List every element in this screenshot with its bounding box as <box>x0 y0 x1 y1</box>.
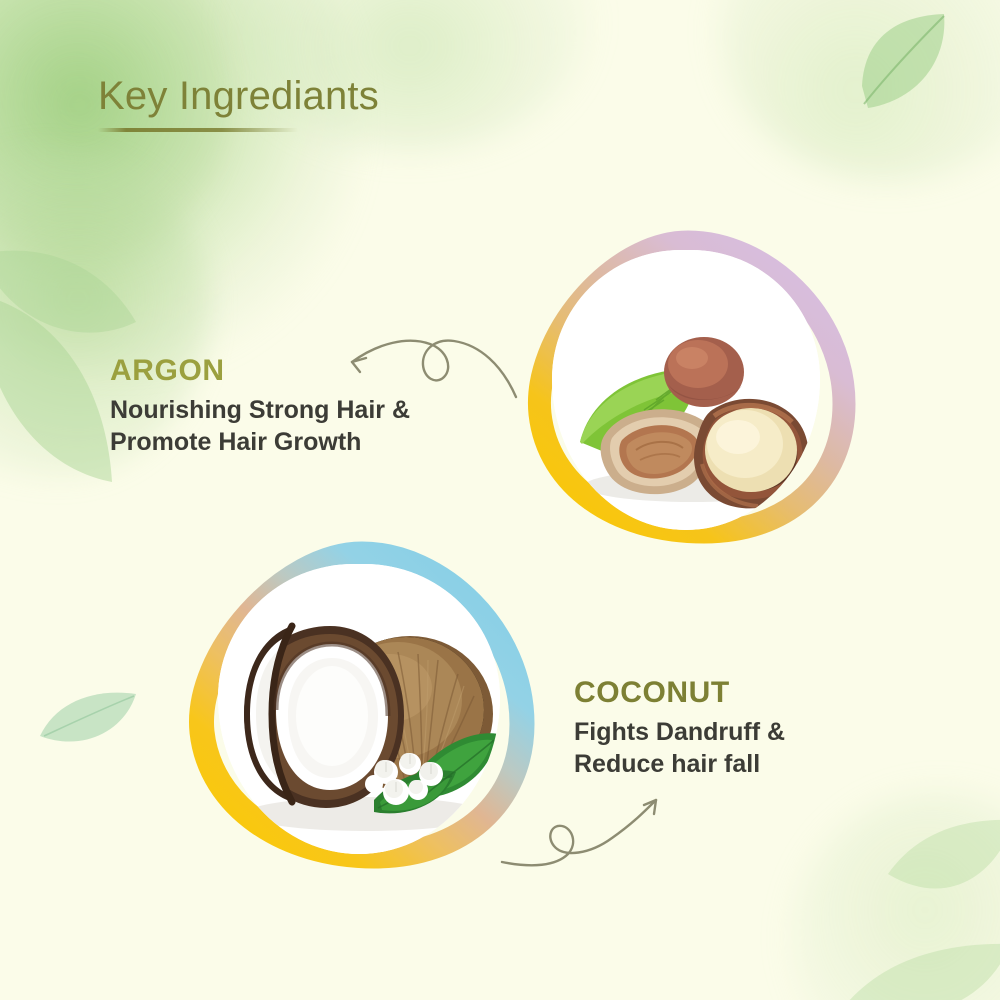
ingredient-name-argon: ARGON <box>110 356 410 386</box>
watercolor-top-left <box>0 0 360 370</box>
ingredient-text-coconut: COCONUT Fights Dandruff & Reduce hair fa… <box>574 678 785 780</box>
ingredient-name-coconut: COCONUT <box>574 678 785 708</box>
leaf-bottom-left-icon <box>36 686 140 754</box>
leaf-top-right-icon <box>852 8 962 118</box>
ingredient-image-argon <box>512 228 864 548</box>
watercolor-bottom-right <box>790 790 1000 1000</box>
watercolor-top-left-core <box>0 0 230 270</box>
leaf-bottom-right-1-icon <box>886 818 1000 918</box>
watercolor-top-right <box>720 0 1000 180</box>
page-title: Key Ingrediants <box>98 76 379 116</box>
ingredient-desc-coconut: Fights Dandruff & Reduce hair fall <box>574 717 785 780</box>
ingredient-text-argon: ARGON Nourishing Strong Hair & Promote H… <box>110 356 410 458</box>
page-title-block: Key Ingrediants <box>98 76 379 132</box>
leaf-bottom-right-2-icon <box>838 920 1000 1000</box>
ingredient-desc-argon: Nourishing Strong Hair & Promote Hair Gr… <box>110 395 410 458</box>
ingredient-image-coconut <box>178 538 538 874</box>
title-underline <box>98 128 298 132</box>
poster-canvas: Key Ingrediants ARGON Nourishing Strong … <box>0 0 1000 1000</box>
